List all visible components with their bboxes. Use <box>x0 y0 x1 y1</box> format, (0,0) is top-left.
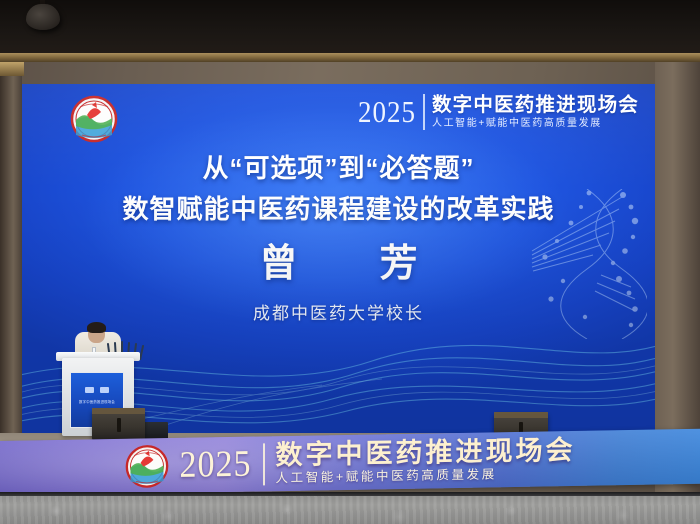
podium-logo-mark-1 <box>85 387 94 393</box>
venue-ceiling <box>0 0 700 62</box>
screen-header-year: 2025 <box>358 97 416 127</box>
conference-photo-scene: 2025 数字中医药推进现场会 人工智能+赋能中医药高质量发展 从“可选项”到“… <box>0 0 700 524</box>
spotlight-fixture-icon <box>26 4 60 30</box>
banner-conference-emblem-logo-icon <box>125 444 169 489</box>
slide-title-line1: 从“可选项”到“必答题” <box>22 148 655 185</box>
screen-header-title: 数字中医药推进现场会 <box>432 95 639 115</box>
podium-screen-text: 数字中医药推进现场会 <box>71 399 123 404</box>
screen-header-subtitle: 人工智能+赋能中医药高质量发展 <box>432 118 639 129</box>
speaker-hair <box>87 322 106 333</box>
banner-subtitle: 人工智能+赋能中医药高质量发展 <box>276 467 576 486</box>
venue-carpet <box>0 492 700 524</box>
wall-left-gold-trim <box>0 62 24 76</box>
banner-divider <box>263 443 265 485</box>
podium-screen-logos <box>71 387 123 393</box>
slide-speaker-role: 成都中医药大学校长 <box>22 299 655 324</box>
monitor-top-band <box>92 408 145 414</box>
stage-monitor-left <box>92 408 145 440</box>
conference-emblem-logo-icon <box>70 95 118 143</box>
slide-speaker-name: 曾 芳 <box>22 232 655 287</box>
carpet-pattern <box>0 492 700 524</box>
monitor-top-band <box>494 412 548 418</box>
header-divider <box>423 94 425 130</box>
screen-header-lockup: 2025 数字中医药推进现场会 人工智能+赋能中医药高质量发展 <box>358 94 639 130</box>
slide-title-line2: 数智赋能中医药课程建设的改革实践 <box>22 189 655 226</box>
banner-title: 数字中医药推进现场会 <box>276 436 576 470</box>
monitor-slot <box>117 418 121 431</box>
podium-logo-mark-2 <box>100 387 109 393</box>
banner-year: 2025 <box>180 445 252 484</box>
